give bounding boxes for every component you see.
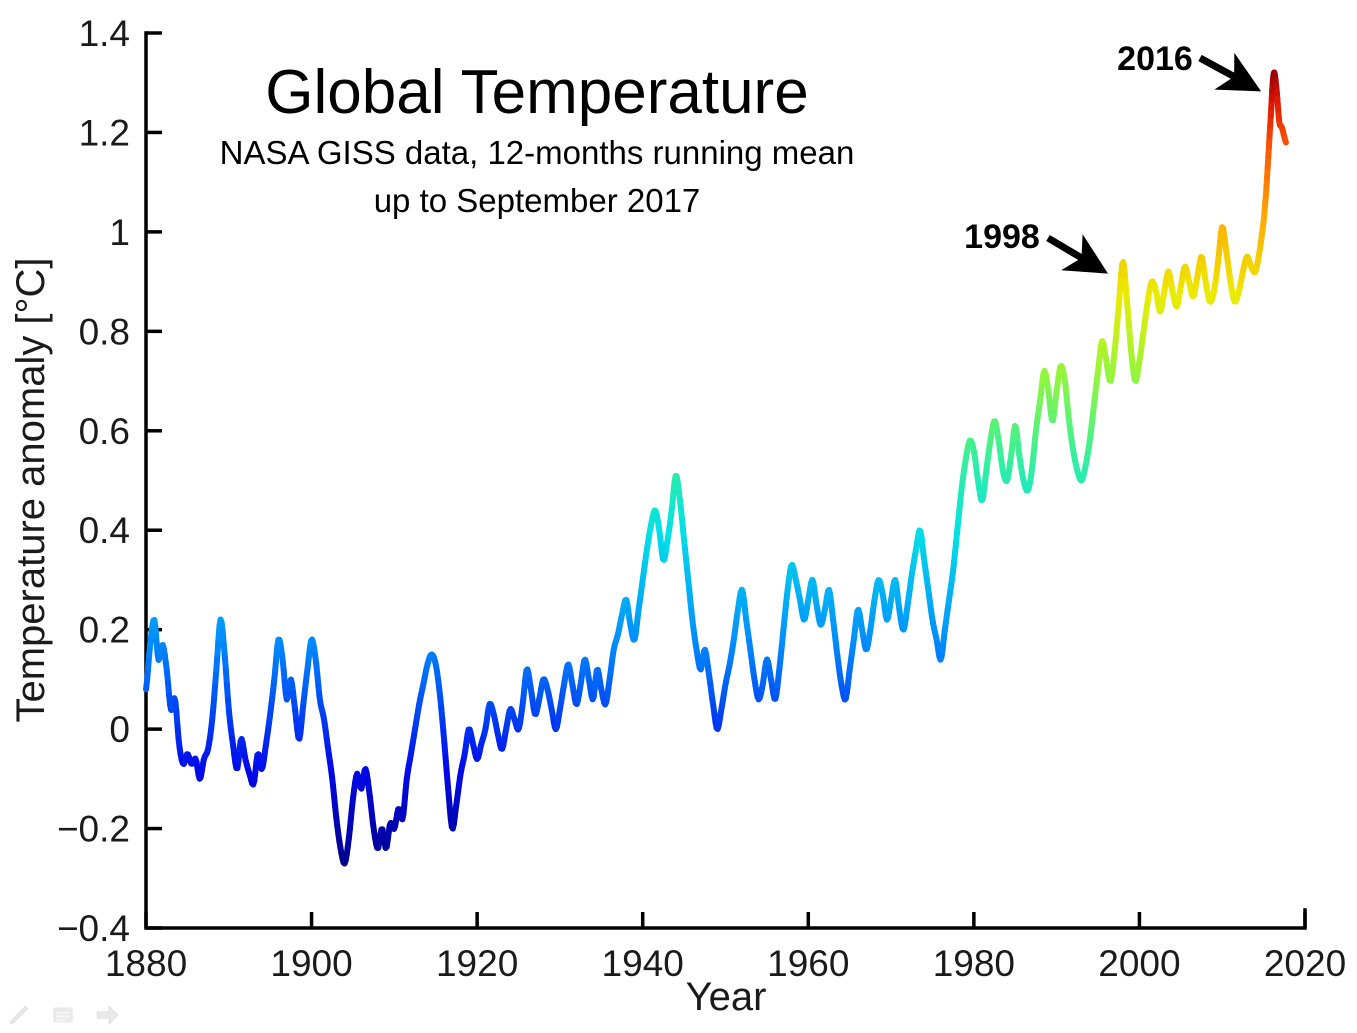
x-tick-label: 1880 — [105, 943, 187, 984]
data-line-segment — [1285, 139, 1286, 142]
temperature-anomaly-line — [146, 73, 1286, 864]
x-tick-label: 1940 — [602, 943, 684, 984]
presentation-controls — [6, 1002, 120, 1028]
y-tick-label: −0.2 — [57, 809, 130, 850]
notes-icon[interactable] — [50, 1002, 76, 1028]
y-tick-marks — [146, 33, 162, 928]
x-tick-label: 1980 — [933, 943, 1015, 984]
annotation-2016-arrow — [1200, 58, 1255, 88]
y-tick-label: 1.2 — [79, 112, 130, 153]
chart-subtitle-line-1: NASA GISS data, 12-months running mean — [220, 134, 855, 171]
x-axis-title: Year — [686, 975, 767, 1019]
slide-canvas: −0.4−0.200.20.40.60.811.21.4 18801900192… — [0, 0, 1357, 1032]
chart-subtitle-line-2: up to September 2017 — [374, 182, 701, 219]
advance-icon[interactable] — [94, 1002, 120, 1028]
x-tick-label: 1960 — [767, 943, 849, 984]
annotation-1998-arrow — [1048, 238, 1102, 270]
y-tick-label: 1.4 — [79, 13, 130, 54]
y-tick-labels: −0.4−0.200.20.40.60.811.21.4 — [57, 13, 130, 949]
y-tick-label: 0.2 — [79, 610, 130, 651]
y-tick-label: 0 — [109, 709, 130, 750]
annotation-1998: 1998 — [964, 218, 1102, 270]
x-tick-label: 1920 — [436, 943, 518, 984]
x-tick-label: 2000 — [1098, 943, 1180, 984]
annotation-1998-label: 1998 — [964, 218, 1040, 256]
annotation-2016: 2016 — [1117, 40, 1255, 88]
y-axis-title: Temperature anomaly [°C] — [9, 257, 53, 722]
global-temperature-chart: −0.4−0.200.20.40.60.811.21.4 18801900192… — [0, 0, 1357, 1032]
y-tick-label: 1 — [109, 212, 130, 253]
x-tick-label: 2020 — [1264, 943, 1346, 984]
annotation-2016-label: 2016 — [1117, 40, 1193, 78]
y-tick-label: 0.4 — [79, 510, 130, 551]
y-tick-label: 0.6 — [79, 411, 130, 452]
chart-title: Global Temperature — [265, 58, 808, 127]
x-tick-marks — [146, 912, 1305, 928]
y-tick-label: 0.8 — [79, 311, 130, 352]
x-tick-label: 1900 — [270, 943, 352, 984]
pen-icon[interactable] — [6, 1002, 32, 1028]
